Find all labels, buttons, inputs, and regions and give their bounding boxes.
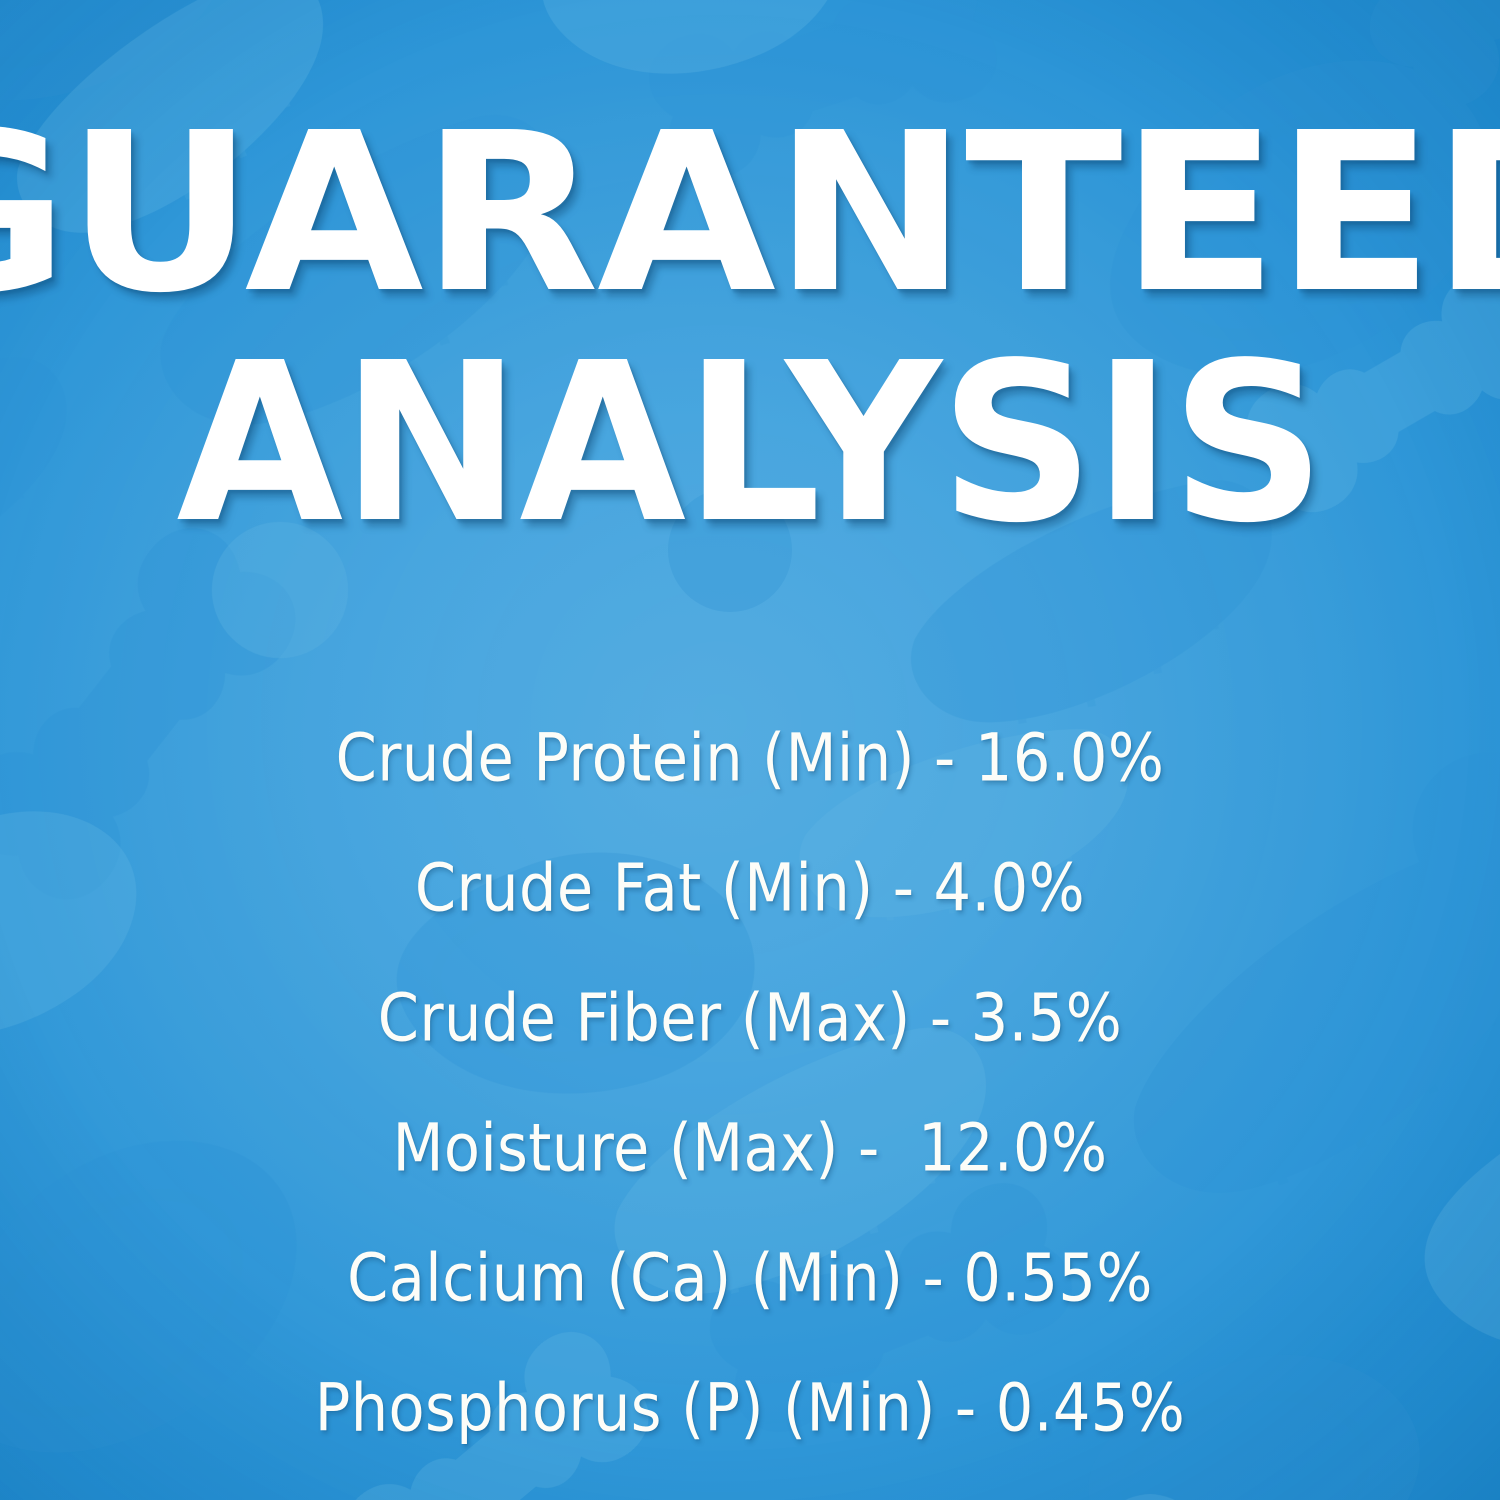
guaranteed-analysis-list: Crude Protein (Min) - 16.0% Crude Fat (M…: [0, 692, 1500, 1472]
title-line-analysis: ANALYSIS: [0, 337, 1500, 552]
analysis-row-phosphorus: Phosphorus (P) (Min) - 0.45%: [0, 1342, 1500, 1472]
analysis-row-calcium: Calcium (Ca) (Min) - 0.55%: [0, 1212, 1500, 1342]
analysis-row-text: Calcium (Ca) (Min) - 0.55%: [347, 1244, 1153, 1310]
analysis-row-text: Crude Fiber (Max) - 3.5%: [378, 984, 1122, 1050]
page-title: GUARANTEED ANALYSIS: [0, 118, 1500, 540]
analysis-row-moisture: Moisture (Max) - 12.0%: [0, 1082, 1500, 1212]
analysis-row-crude-fiber: Crude Fiber (Max) - 3.5%: [0, 952, 1500, 1082]
analysis-row-text: Phosphorus (P) (Min) - 0.45%: [315, 1374, 1185, 1440]
analysis-row-text: Moisture (Max) - 12.0%: [393, 1114, 1108, 1180]
analysis-row-text: Crude Fat (Min) - 4.0%: [415, 854, 1085, 920]
analysis-row-text: Crude Protein (Min) - 16.0%: [336, 724, 1165, 790]
guaranteed-analysis-panel: GUARANTEED ANALYSIS Crude Protein (Min) …: [0, 0, 1500, 1500]
content-area: GUARANTEED ANALYSIS Crude Protein (Min) …: [0, 0, 1500, 1500]
analysis-row-crude-protein: Crude Protein (Min) - 16.0%: [0, 692, 1500, 822]
analysis-row-crude-fat: Crude Fat (Min) - 4.0%: [0, 822, 1500, 952]
title-line-guaranteed: GUARANTEED: [0, 106, 1500, 321]
